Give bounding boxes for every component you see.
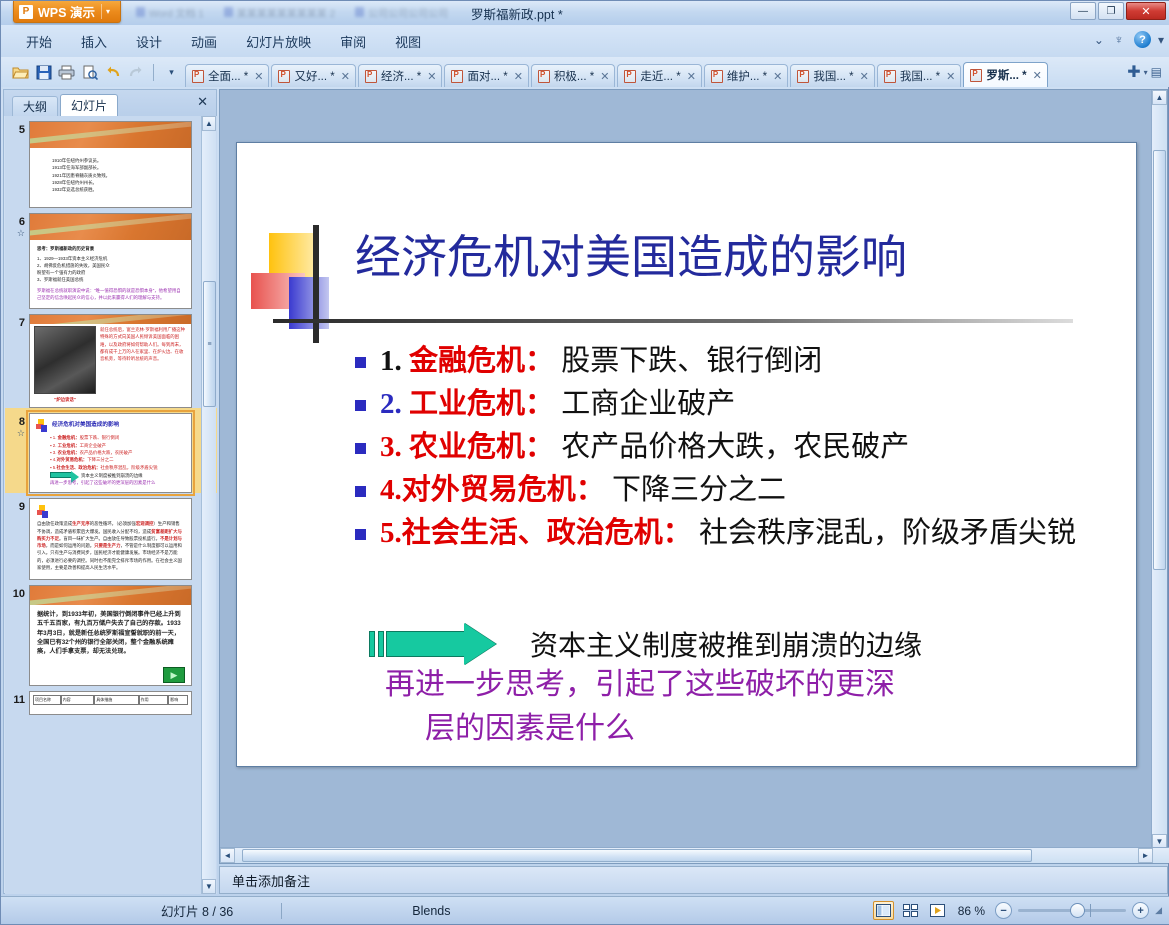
doc-tab-label: 面对... * <box>467 68 507 84</box>
ppt-file-icon <box>538 70 550 83</box>
logo-yellow-square <box>269 233 313 277</box>
wps-app-badge[interactable]: P WPS 演示 ▾ <box>13 1 121 23</box>
thumb-line: 1913年任海军部副部长。 <box>52 164 181 171</box>
thumb-purple-text: 再进一步思考，引起了这些破坏的更深层的因素是什么 <box>50 479 185 486</box>
slide-counter: 幻灯片 8 / 36 <box>161 901 233 920</box>
menubar-right-controls: ⌄ ♆ ? ▾ <box>1094 31 1164 48</box>
doc-tab-woguo-1[interactable]: 我国... * ✕ <box>790 64 874 87</box>
ghost-tab-label: Word 文档 1 <box>149 5 204 20</box>
thumb-bullet: ▪ 2. 工业危机：工商企业破产 <box>50 442 185 449</box>
tab-outline[interactable]: 大纲 <box>12 96 58 116</box>
thumb-line: 1928年任纽约州州长。 <box>52 179 181 186</box>
close-icon[interactable]: ✕ <box>600 70 609 83</box>
arrow-bar <box>369 631 375 657</box>
ppt-file-icon <box>624 70 636 83</box>
logo-vertical-bar <box>313 225 319 343</box>
toolbar-icon-group: ▾ <box>1 62 182 83</box>
undo-icon[interactable] <box>102 62 123 83</box>
shirt-icon[interactable]: ♆ <box>1111 32 1127 47</box>
doc-tab-label: 维护... * <box>727 68 767 84</box>
thumb-line: 1921年因患脊髓灰质炎致残。 <box>52 172 181 179</box>
window-controls: — ❐ ✕ <box>1070 2 1166 20</box>
doc-tab-woguo-2[interactable]: 我国... * ✕ <box>877 64 961 87</box>
slide-thumbnail-9[interactable]: 9 自由放任政策造成生产无序的恶性循环。（必须加强宏观调控）生产和销售不协调，造… <box>5 493 217 580</box>
doc-tab-mandui[interactable]: 面对... * ✕ <box>444 64 528 87</box>
thumb-banner <box>30 586 191 605</box>
logo-horizontal-rule <box>273 319 1073 323</box>
zoom-slider-handle[interactable] <box>1070 903 1085 918</box>
open-icon[interactable] <box>10 62 31 83</box>
doc-tab-label: 罗斯... * <box>986 67 1026 83</box>
arrow-conclusion-text: 资本主义制度被推到崩溃的边缘 <box>530 624 922 664</box>
doc-icon <box>136 7 145 17</box>
bullet-detail: 社会秩序混乱，阶级矛盾尖锐 <box>699 517 1076 549</box>
slideshow-button[interactable] <box>927 901 948 920</box>
thumb-table-header: 项目名称 <box>33 695 61 705</box>
doc-tab-label: 走近... * <box>640 68 680 84</box>
doc-tab-luosifu[interactable]: 罗斯... * ✕ <box>963 62 1047 87</box>
zoom-slider[interactable] <box>1018 909 1126 912</box>
arrow-tail-bars <box>369 631 384 657</box>
theme-name: Blends <box>412 904 450 918</box>
bullet-keyword: 金融危机： <box>409 345 554 377</box>
menu-item-slideshow[interactable]: 幻灯片放映 <box>233 28 324 55</box>
doc-tab-zoujin[interactable]: 走近... * ✕ <box>617 64 701 87</box>
wps-app-name: WPS 演示 <box>38 2 95 21</box>
thumb-line: 1、1929—1933年资本主义经济危机 <box>37 255 184 262</box>
slide-thumbnail-6[interactable]: 6 ☆ 思考：罗斯福新政的历史背景 1、1929—1933年资本主义经济危机 2… <box>5 208 217 309</box>
ppt-file-icon <box>711 70 723 83</box>
menu-item-start[interactable]: 开始 <box>13 28 65 55</box>
toolbar-more-icon[interactable]: ▾ <box>161 62 182 83</box>
minimize-button[interactable]: — <box>1070 2 1096 20</box>
work-area: 大纲 幻灯片 ✕ 5 1910年任纽约州参议员。 1913年任海军部副部长。 <box>1 87 1169 896</box>
close-icon[interactable]: ✕ <box>860 70 869 83</box>
bullet-text: 3. 农业危机： 农产品价格大跌，农民破产 <box>380 427 909 467</box>
toolbar-separator <box>153 64 154 81</box>
slide-body-bullets[interactable]: 1. 金融危机： 股票下跌、银行倒闭 2. 工业危机： 工商企业破产 <box>355 341 1125 556</box>
editor-vertical-scrollbar[interactable]: ▲ ▼ <box>1151 90 1167 849</box>
panel-scrollbar[interactable]: ▲ ≡ ▼ <box>201 116 216 894</box>
zoom-out-button[interactable]: − <box>995 902 1012 919</box>
thumb-photo <box>34 326 96 394</box>
thumb-bullet: ▪ 1. 金融危机：股票下跌、银行倒闭 <box>50 434 185 441</box>
thumb-number: 10 <box>7 585 29 600</box>
close-icon[interactable]: ✕ <box>1033 69 1042 82</box>
thumb-number: 9 <box>7 498 29 513</box>
editor-horizontal-scrollbar[interactable]: ◄ ► <box>220 847 1169 863</box>
slide-logo-decoration <box>251 225 347 333</box>
question-line-2: 层的因素是什么 <box>385 707 1085 751</box>
slide-thumbnail-10[interactable]: 10 据统计，到1933年初，美国银行倒闭事件已经上升到五千五百家，有九百万储户… <box>5 580 217 686</box>
arrow-shaft <box>386 631 464 657</box>
bullet-keyword: 农业危机： <box>409 431 554 463</box>
thumb-banner <box>30 122 191 148</box>
thumb-bullet: ▪ 3. 农业危机：农产品价格大跌，农民破产 <box>50 449 185 456</box>
arrow-head-icon <box>464 623 496 665</box>
thumb-dense-text: 自由放任政策造成生产无序的恶性循环。（必须加强宏观调控）生产和销售不协调，造成矛… <box>37 520 184 571</box>
menu-item-review[interactable]: 审阅 <box>327 28 379 55</box>
close-icon[interactable]: ✕ <box>946 70 955 83</box>
doc-tab-jingji[interactable]: 经济... * ✕ <box>358 64 442 87</box>
thumb-preview: 思考：罗斯福新政的历史背景 1、1929—1933年资本主义经济危机 2、胡佛反… <box>29 213 192 309</box>
bullet-text: 2. 工业危机： 工商企业破产 <box>380 384 735 424</box>
menu-item-animation[interactable]: 动画 <box>178 28 230 55</box>
thumb-line: 2、胡佛反危机措施的失败，美国民众 <box>37 262 184 269</box>
thumb-heading: 思考：罗斯福新政的历史背景 <box>37 245 184 252</box>
notes-pane[interactable]: 单击添加备注 <box>219 866 1168 894</box>
redo-icon[interactable] <box>125 62 146 83</box>
bullet-square-icon <box>355 400 366 411</box>
zoom-default-tick <box>1090 904 1091 917</box>
doc-tab-label: 我国... * <box>900 68 940 84</box>
close-icon[interactable]: ✕ <box>254 70 263 83</box>
animation-star-icon: ☆ <box>7 228 29 239</box>
slide-question-text[interactable]: 再进一步思考，引起了这些破坏的更深 层的因素是什么 <box>385 663 1085 750</box>
thumb-logo-icon <box>36 419 49 432</box>
thumb-table-header: 具体措施 <box>94 695 138 705</box>
doc-tab-label: 我国... * <box>813 68 853 84</box>
thumb-paragraph: 据统计，到1933年初，美国银行倒闭事件已经上升到五千五百家，有九百万储户失去了… <box>37 610 184 656</box>
thumb-preview: "炉边谈话" 就任总统后，富兰克林·罗斯福利用广播这种特殊的方式向美国人民倾诉美… <box>29 314 192 408</box>
close-button[interactable]: ✕ <box>1126 2 1166 20</box>
menu-item-view[interactable]: 视图 <box>382 28 434 55</box>
slide-sorter-button[interactable] <box>900 901 921 920</box>
bullet-keyword: 工业危机： <box>409 388 554 420</box>
slide-thumbnail-5[interactable]: 5 1910年任纽约州参议员。 1913年任海军部副部长。 1921年因患脊髓灰… <box>5 116 217 208</box>
chevron-down-icon[interactable]: ⌄ <box>1094 33 1104 47</box>
ppt-file-icon <box>278 70 290 83</box>
thumb-preview: 1910年任纽约州参议员。 1913年任海军部副部长。 1921年因患脊髓灰质炎… <box>29 121 192 208</box>
thumb-note: 罗斯福在总统就职演说中说："唯一值得恐惧的就是恐惧本身"，他希望用自己坚定的信念… <box>37 287 184 302</box>
zoom-in-button[interactable]: + <box>1132 902 1149 919</box>
animation-star-icon: ☆ <box>7 428 29 439</box>
close-icon[interactable]: ✕ <box>514 70 523 83</box>
bullet-square-icon <box>355 357 366 368</box>
bullet-square-icon <box>355 486 366 497</box>
ppt-file-icon <box>192 70 204 83</box>
thumb-preview: 项目名称 内容 具体措施 作用 影响 <box>29 691 192 715</box>
thumb-bullet: ▪ 5.社会生活、政治危机：社会秩序混乱，阶级矛盾尖锐 <box>50 464 185 471</box>
thumb-arrow-shape <box>50 472 72 478</box>
scroll-down-button[interactable]: ▼ <box>202 879 216 894</box>
bullet-number: 4. <box>380 474 402 506</box>
document-tab-bar: 全面... * ✕ 又好... * ✕ 经济... * ✕ 面对... * ✕ … <box>182 57 1127 87</box>
ppt-file-icon <box>970 69 982 82</box>
doc-tab-jiji[interactable]: 积极... * ✕ <box>531 64 615 87</box>
doc-tab-label: 全面... * <box>208 68 248 84</box>
tab-slides[interactable]: 幻灯片 <box>60 94 118 116</box>
ghost-tab-label: 某某某某某某某某某 2 <box>237 5 335 20</box>
resize-grip-icon[interactable]: ◢ <box>1155 905 1162 916</box>
bullet-item-4[interactable]: 4.对外贸易危机： 下降三分之二 <box>355 470 1125 510</box>
ppt-file-icon <box>365 70 377 83</box>
thumb-preview: 经济危机对美国造成的影响 ▪ 1. 金融危机：股票下跌、银行倒闭 ▪ 2. 工业… <box>29 413 192 493</box>
doc-tab-weihu[interactable]: 维护... * ✕ <box>704 64 788 87</box>
bullet-detail: 农产品价格大跌，农民破产 <box>561 431 909 463</box>
thumb-line: 盼望有一个强有力的政府 <box>37 269 184 276</box>
close-icon[interactable]: ✕ <box>341 70 350 83</box>
thumb-number: 7 <box>7 314 29 329</box>
scrollbar-thumb-horizontal[interactable] <box>242 849 1032 862</box>
doc-tab-label: 又好... * <box>294 68 334 84</box>
slide-thumbnail-7[interactable]: 7 "炉边谈话" 就任总统后，富兰克林·罗斯福利用广播这种特殊的方式向美国人民倾… <box>5 309 217 408</box>
background-document-tabs: Word 文档 1 某某某某某某某某某 2 公司公司公司公司 <box>121 1 1169 23</box>
slide-thumbnail-11[interactable]: 11 项目名称 内容 具体措施 作用 影响 <box>5 686 217 715</box>
bullet-number: 5. <box>380 517 402 549</box>
thumb-banner <box>30 214 191 240</box>
window-list-icon[interactable]: ▤ <box>1151 65 1162 79</box>
bullet-number: 3. <box>380 431 402 463</box>
thumb-number: 11 <box>7 691 29 706</box>
tab-bar-controls: ✚ ▾ ▤ <box>1127 62 1169 82</box>
doc-tab-youhao[interactable]: 又好... * ✕ <box>271 64 355 87</box>
scrollbar-thumb-vertical[interactable] <box>1153 150 1166 570</box>
status-bar: 幻灯片 8 / 36 Blends 86 % − + ◢ <box>1 896 1169 924</box>
menu-bar: 开始 插入 设计 动画 幻灯片放映 审阅 视图 ⌄ ♆ ? ▾ <box>1 25 1169 57</box>
ghost-tab[interactable]: Word 文档 1 <box>131 3 209 21</box>
bullet-number: 2. <box>380 388 402 420</box>
thumb-table-header: 内容 <box>61 695 95 705</box>
doc-tab-label: 经济... * <box>381 68 421 84</box>
doc-icon <box>224 7 233 17</box>
bullet-item-2[interactable]: 2. 工业危机： 工商企业破产 <box>355 384 1125 424</box>
save-icon[interactable] <box>33 62 54 83</box>
thumb-table-header: 影响 <box>168 695 188 705</box>
bullet-detail: 工商企业破产 <box>561 388 735 420</box>
ghost-tab-label: 公司公司公司公司 <box>368 5 448 20</box>
wps-logo-icon: P <box>19 5 33 19</box>
thumb-logo-icon <box>37 505 50 518</box>
bullet-detail: 股票下跌、银行倒闭 <box>561 345 822 377</box>
thumb-table-header: 作用 <box>139 695 169 705</box>
thumb-banner <box>30 315 191 324</box>
thumb-bullet: ▪ 4.对外贸易危机：下降三分之二 <box>50 456 185 463</box>
bullet-keyword: 社会生活、政治危机： <box>402 517 692 549</box>
bullet-text: 4.对外贸易危机： 下降三分之二 <box>380 470 786 510</box>
normal-view-button[interactable] <box>873 901 894 920</box>
document-title: 罗斯福新政.ppt * <box>471 4 563 23</box>
panel-tab-bar: 大纲 幻灯片 ✕ <box>4 90 216 116</box>
print-icon[interactable] <box>56 62 77 83</box>
slide-thumbnail-8[interactable]: 8 ☆ 经济危机对美国造成的影响 <box>5 408 217 493</box>
thumb-line: 1932年竞选总统获胜。 <box>52 186 181 193</box>
help-icon[interactable]: ? <box>1134 31 1151 48</box>
menu-item-insert[interactable]: 插入 <box>68 28 120 55</box>
thumb-caption: "炉边谈话" <box>34 396 96 403</box>
bullet-number: 1. <box>380 345 402 377</box>
question-line-1: 再进一步思考，引起了这些破坏的更深 <box>385 663 1085 707</box>
slide-navigator-panel: 大纲 幻灯片 ✕ 5 1910年任纽约州参议员。 1913年任海军部副部长。 <box>3 89 217 894</box>
maximize-button[interactable]: ❐ <box>1098 2 1124 20</box>
bullet-item-1[interactable]: 1. 金融危机： 股票下跌、银行倒闭 <box>355 341 1125 381</box>
close-icon[interactable]: ✕ <box>773 70 782 83</box>
thumb-number: 5 <box>7 121 29 136</box>
arrow-conclusion-row[interactable]: 资本主义制度被推到崩溃的边缘 <box>369 623 922 665</box>
thumb-preview: 自由放任政策造成生产无序的恶性循环。（必须加强宏观调控）生产和销售不协调，造成矛… <box>29 498 192 580</box>
zoom-level-label: 86 % <box>958 904 985 918</box>
slide-title[interactable]: 经济危机对美国造成的影响 <box>355 221 907 287</box>
bullet-square-icon <box>355 529 366 540</box>
ghost-tab[interactable]: 公司公司公司公司 <box>350 3 453 21</box>
doc-tab-label: 积极... * <box>554 68 594 84</box>
slide-thumbnail-list[interactable]: 5 1910年任纽约州参议员。 1913年任海军部副部长。 1921年因患脊髓灰… <box>5 116 217 894</box>
title-bar: P WPS 演示 ▾ Word 文档 1 某某某某某某某某某 2 公司公司公司公… <box>1 1 1169 25</box>
thumb-line: 1910年任纽约州参议员。 <box>52 157 181 164</box>
bullet-keyword: 对外贸易危机： <box>402 474 605 506</box>
slide-canvas[interactable]: 经济危机对美国造成的影响 1. 金融危机： 股票下跌、银行倒闭 2. <box>236 142 1137 767</box>
help-chevron-icon[interactable]: ▾ <box>1158 33 1164 47</box>
bullet-text: 5.社会生活、政治危机： 社会秩序混乱，阶级矛盾尖锐 <box>380 513 1076 553</box>
wps-presentation-window: P WPS 演示 ▾ Word 文档 1 某某某某某某某某某 2 公司公司公司公… <box>0 0 1169 925</box>
thumb-side-text: 就任总统后，富兰克林·罗斯福利用广播这种特殊的方式向美国人民倾诉美国面临的困难，… <box>100 326 187 403</box>
thumb-arrow-text: 资本主义制度被推到崩溃的边缘 <box>81 472 142 479</box>
doc-icon <box>355 7 364 17</box>
slide-editor-area: 经济危机对美国造成的影响 1. 金融危机： 股票下跌、银行倒闭 2. <box>219 89 1168 864</box>
bullet-text: 1. 金融危机： 股票下跌、银行倒闭 <box>380 341 822 381</box>
new-tab-chevron-icon[interactable]: ▾ <box>1144 68 1148 77</box>
ppt-file-icon <box>797 70 809 83</box>
thumb-preview: 据统计，到1933年初，美国银行倒闭事件已经上升到五千五百家，有九百万储户失去了… <box>29 585 192 686</box>
quick-access-toolbar: ▾ 全面... * ✕ 又好... * ✕ 经济... * ✕ 面对... * … <box>1 57 1169 87</box>
thumb-title: 经济危机对美国造成的影响 <box>52 420 119 428</box>
media-play-icon: ▶ <box>163 667 185 683</box>
scroll-up-button[interactable]: ▲ <box>202 116 216 131</box>
close-icon[interactable]: ✕ <box>687 70 696 83</box>
bullet-square-icon <box>355 443 366 454</box>
thumb-line: 3、罗斯福就任美国总统 <box>37 276 184 283</box>
thumb-number: 6 <box>7 213 29 228</box>
scrollbar-thumb[interactable]: ≡ <box>203 281 216 407</box>
status-divider <box>281 903 282 919</box>
arrow-bar <box>378 631 384 657</box>
new-tab-button[interactable]: ✚ <box>1127 62 1140 82</box>
chevron-down-icon[interactable]: ▾ <box>101 4 114 19</box>
ppt-file-icon <box>451 70 463 83</box>
bullet-detail: 下降三分之二 <box>612 474 786 506</box>
panel-close-icon[interactable]: ✕ <box>197 94 208 110</box>
doc-tab-quanmian[interactable]: 全面... * ✕ <box>185 64 269 87</box>
scroll-left-button[interactable]: ◄ <box>220 848 235 863</box>
ppt-file-icon <box>884 70 896 83</box>
bullet-item-5[interactable]: 5.社会生活、政治危机： 社会秩序混乱，阶级矛盾尖锐 <box>355 513 1125 553</box>
bullet-item-3[interactable]: 3. 农业危机： 农产品价格大跌，农民破产 <box>355 427 1125 467</box>
print-preview-icon[interactable] <box>79 62 100 83</box>
scroll-up-button[interactable]: ▲ <box>1152 90 1167 105</box>
close-icon[interactable]: ✕ <box>427 70 436 83</box>
scroll-right-button[interactable]: ► <box>1138 848 1153 863</box>
menu-item-design[interactable]: 设计 <box>123 28 175 55</box>
ghost-tab[interactable]: 某某某某某某某某某 2 <box>219 3 340 21</box>
thumb-number: 8 <box>7 413 29 428</box>
status-right-controls: 86 % − + ◢ <box>873 901 1162 920</box>
